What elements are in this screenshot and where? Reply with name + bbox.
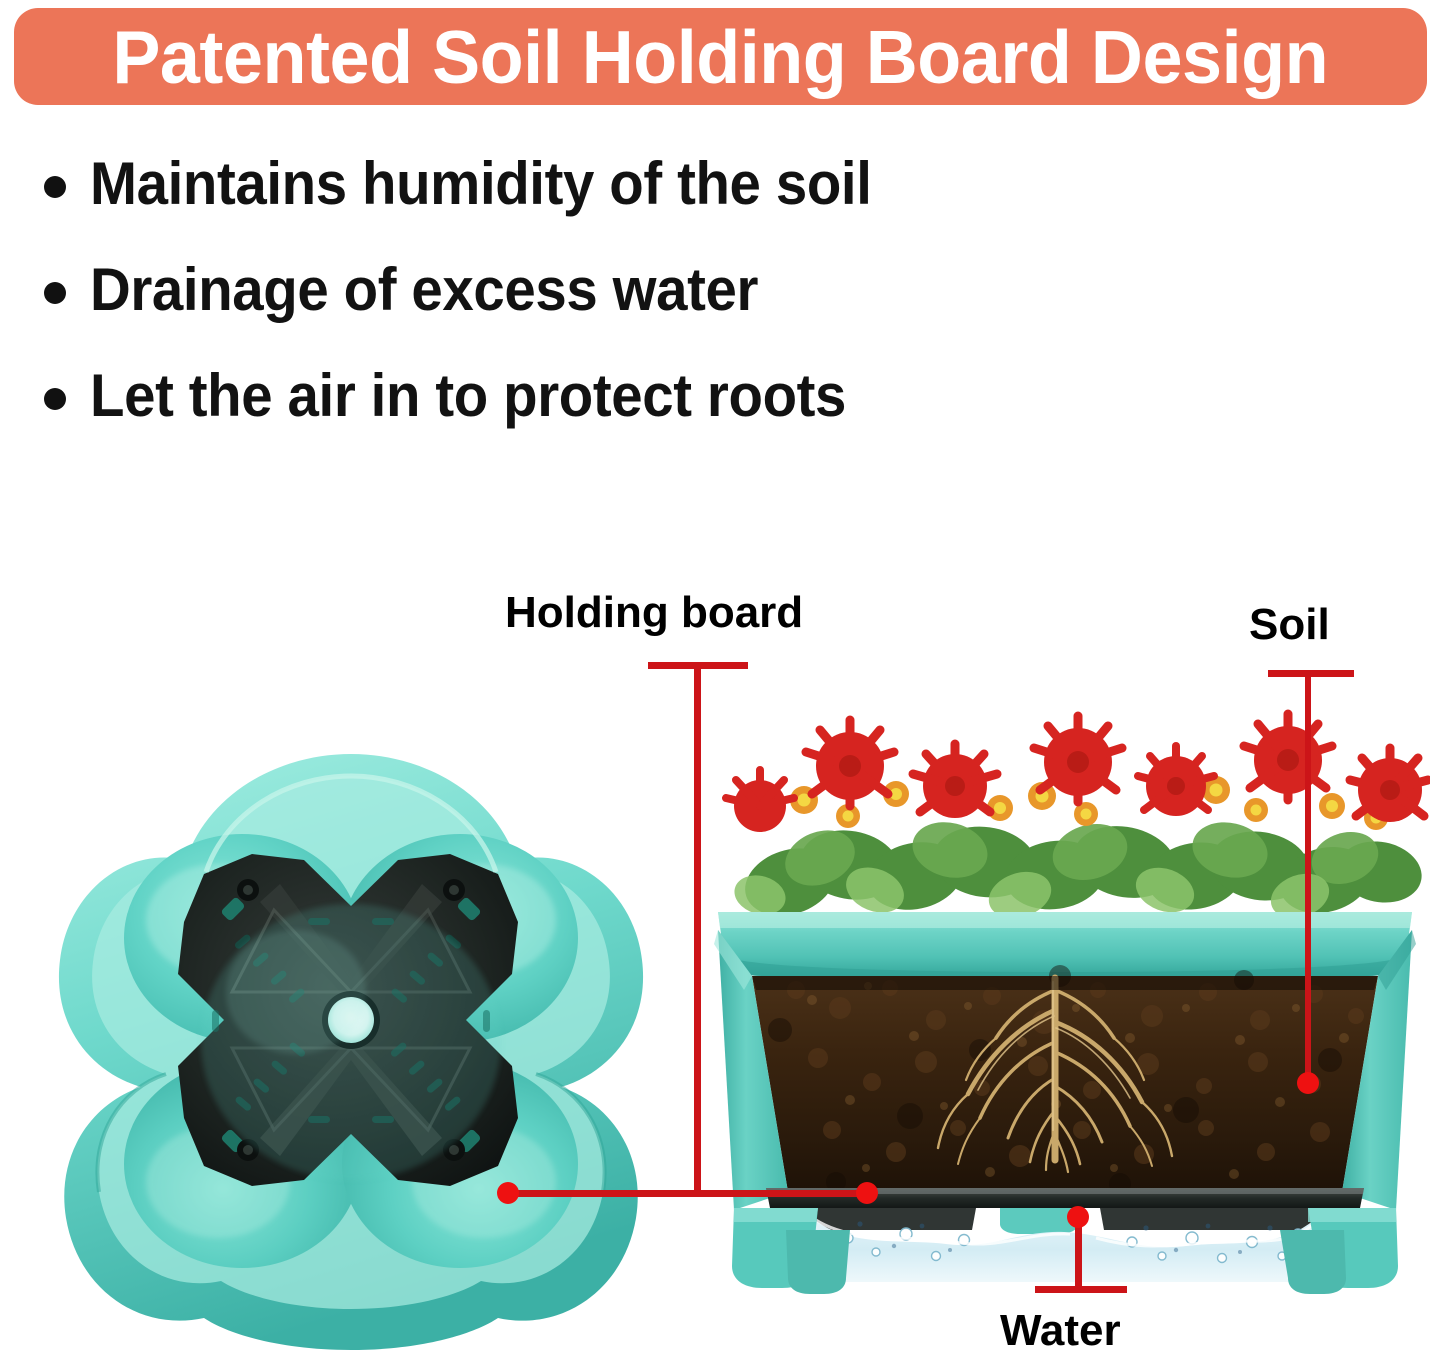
feature-list: Maintains humidity of the soil Drainage …: [44, 150, 1144, 468]
planter-sheen: [201, 904, 501, 1180]
banner: Patented Soil Holding Board Design: [14, 8, 1427, 105]
planter-sheen: [226, 930, 366, 1054]
list-item: Drainage of excess water: [44, 256, 1144, 362]
holding-board-connector-right-arm: [694, 1190, 869, 1197]
soil-top-shadow: [752, 976, 1378, 990]
infographic-page: Patented Soil Holding Board Design Maint…: [0, 0, 1438, 1369]
soil-marker-dot: [1297, 1072, 1319, 1094]
water-connector-vertical: [1075, 1222, 1082, 1288]
holding-board-connector-vertical: [694, 662, 701, 1194]
holding-board-connector-left-arm: [512, 1190, 697, 1197]
pot-cutaway-image: [700, 690, 1430, 1300]
callout-label-water: Water: [1000, 1306, 1121, 1356]
bullet-dot-icon: [44, 176, 66, 198]
bullet-dot-icon: [44, 282, 66, 304]
planter-top-view-image: [46, 742, 656, 1362]
list-item: Maintains humidity of the soil: [44, 150, 1144, 256]
plant-foliage: [726, 714, 1428, 927]
callout-label-soil: Soil: [1249, 600, 1330, 650]
board-center-dip: [1000, 1208, 1078, 1234]
holding-board-marker-dot-left: [497, 1182, 519, 1204]
soil-connector-tbar: [1268, 670, 1354, 677]
page-title: Patented Soil Holding Board Design: [113, 18, 1329, 96]
callout-label-holding-board: Holding board: [505, 588, 803, 638]
list-item: Let the air in to protect roots: [44, 362, 1144, 468]
feature-text: Drainage of excess water: [90, 256, 758, 324]
holding-board-marker-dot-right: [856, 1182, 878, 1204]
soil-connector-vertical: [1305, 670, 1311, 1083]
bullet-dot-icon: [44, 388, 66, 410]
water-marker-dot: [1067, 1206, 1089, 1228]
feature-text: Maintains humidity of the soil: [90, 150, 871, 218]
feature-text: Let the air in to protect roots: [90, 362, 846, 430]
